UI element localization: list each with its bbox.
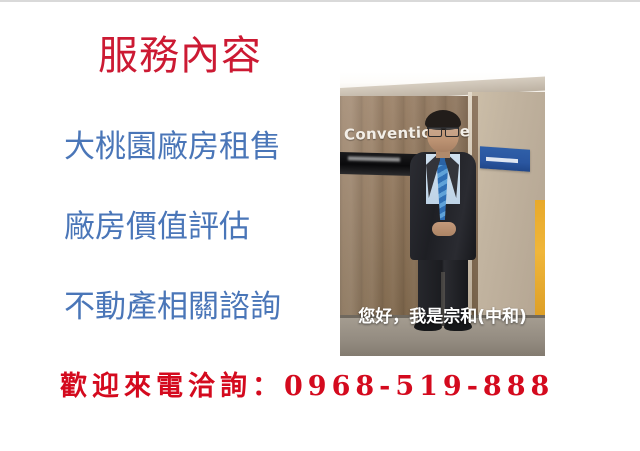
service-item-0: 大桃園廠房租售 bbox=[64, 128, 334, 166]
person-glasses-lens-left bbox=[428, 127, 442, 137]
photo-caption: 您好，我是宗和(中和) bbox=[340, 306, 545, 328]
photo-right-wall bbox=[470, 92, 545, 330]
contact-phone-line: 歡迎來電洽詢：0968-519-888 bbox=[60, 370, 585, 404]
page-title: 服務內容 bbox=[55, 33, 305, 79]
agent-photo: Convention Ce 您好，我是宗和(中和) bbox=[340, 72, 545, 356]
slide-page: 服務內容 大桃園廠房租售 廠房價值評估 不動產相關諮詢 歡迎來電洽詢：0968-… bbox=[0, 0, 640, 451]
service-item-2: 不動產相關諮詢 bbox=[64, 288, 334, 326]
person-glasses-lens-right bbox=[445, 127, 459, 137]
top-divider bbox=[0, 0, 640, 2]
person-hands bbox=[432, 222, 456, 236]
service-item-1: 廠房價值評估 bbox=[64, 208, 334, 246]
